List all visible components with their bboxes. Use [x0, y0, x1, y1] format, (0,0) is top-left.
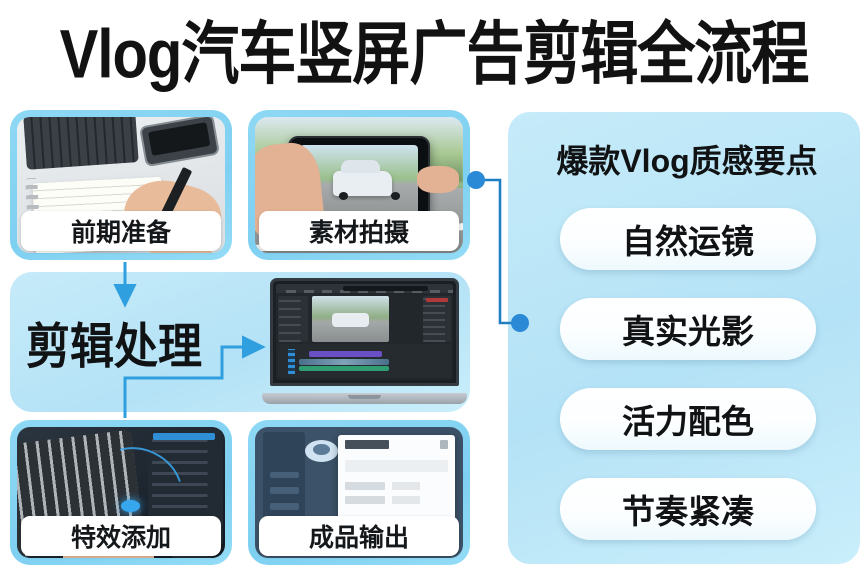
sidebar-item: [270, 487, 299, 494]
dialog-title: [345, 440, 389, 449]
quality-pill-tight-rhythm[interactable]: 节奏紧凑: [560, 478, 816, 540]
timeline-clip-video: [299, 359, 389, 365]
dialog-input[interactable]: [345, 460, 447, 472]
glow-dot-shape: [121, 500, 140, 512]
timeline-clip-green: [299, 366, 389, 372]
finger-shape: [417, 166, 459, 193]
dialog-field-label: [345, 482, 385, 490]
page-title: Vlog汽车竖屏广告剪辑全流程: [0, 1, 868, 95]
flow-card-label: 素材拍摄: [259, 211, 459, 251]
quality-pill-vivid-color[interactable]: 活力配色: [560, 388, 816, 450]
flow-card-export[interactable]: 提交 成品输出: [248, 420, 470, 565]
dialog-field-value: [392, 482, 420, 490]
editor-searchbar: [343, 286, 428, 291]
laptop-video-editor-photo: [262, 278, 467, 404]
editor-preview-monitor: [312, 296, 390, 342]
video-editor-ui: [276, 284, 453, 380]
flow-card-preparation[interactable]: 前期准备: [10, 110, 232, 260]
flow-card-effects[interactable]: 特效添加: [10, 420, 232, 565]
dialog-field-value: [392, 496, 420, 504]
quality-pill-natural-camera[interactable]: 自然运镜: [560, 208, 816, 270]
sidebar-item: [270, 472, 299, 479]
flow-card-label: 特效添加: [21, 516, 221, 556]
laptop-lid: [270, 278, 459, 386]
phone-shape: [139, 117, 220, 167]
close-icon[interactable]: [440, 440, 448, 449]
infographic-canvas: Vlog汽车竖屏广告剪辑全流程 前期准备: [0, 0, 868, 575]
laptop-base: [262, 393, 467, 404]
timeline-track-heads: [288, 349, 295, 374]
avatar: [305, 440, 338, 462]
timeline-clip-purple: [309, 351, 382, 357]
editor-timeline: [278, 344, 451, 379]
quality-pill-real-lighting[interactable]: 真实光影: [560, 298, 816, 360]
editor-left-panel: [278, 296, 308, 342]
flow-card-label: 成品输出: [259, 516, 459, 556]
flow-card-shooting[interactable]: 素材拍摄: [248, 110, 470, 260]
quality-points-heading: 爆款Vlog质感要点: [512, 136, 862, 182]
editing-panel-label: 剪辑处理: [26, 307, 202, 377]
sidebar-item: [270, 503, 299, 510]
car-shape: [333, 171, 392, 196]
dialog-field-label: [345, 496, 385, 504]
flow-card-label: 前期准备: [21, 211, 221, 251]
editor-right-panel: [423, 296, 451, 342]
keyboard-shape: [24, 117, 140, 170]
